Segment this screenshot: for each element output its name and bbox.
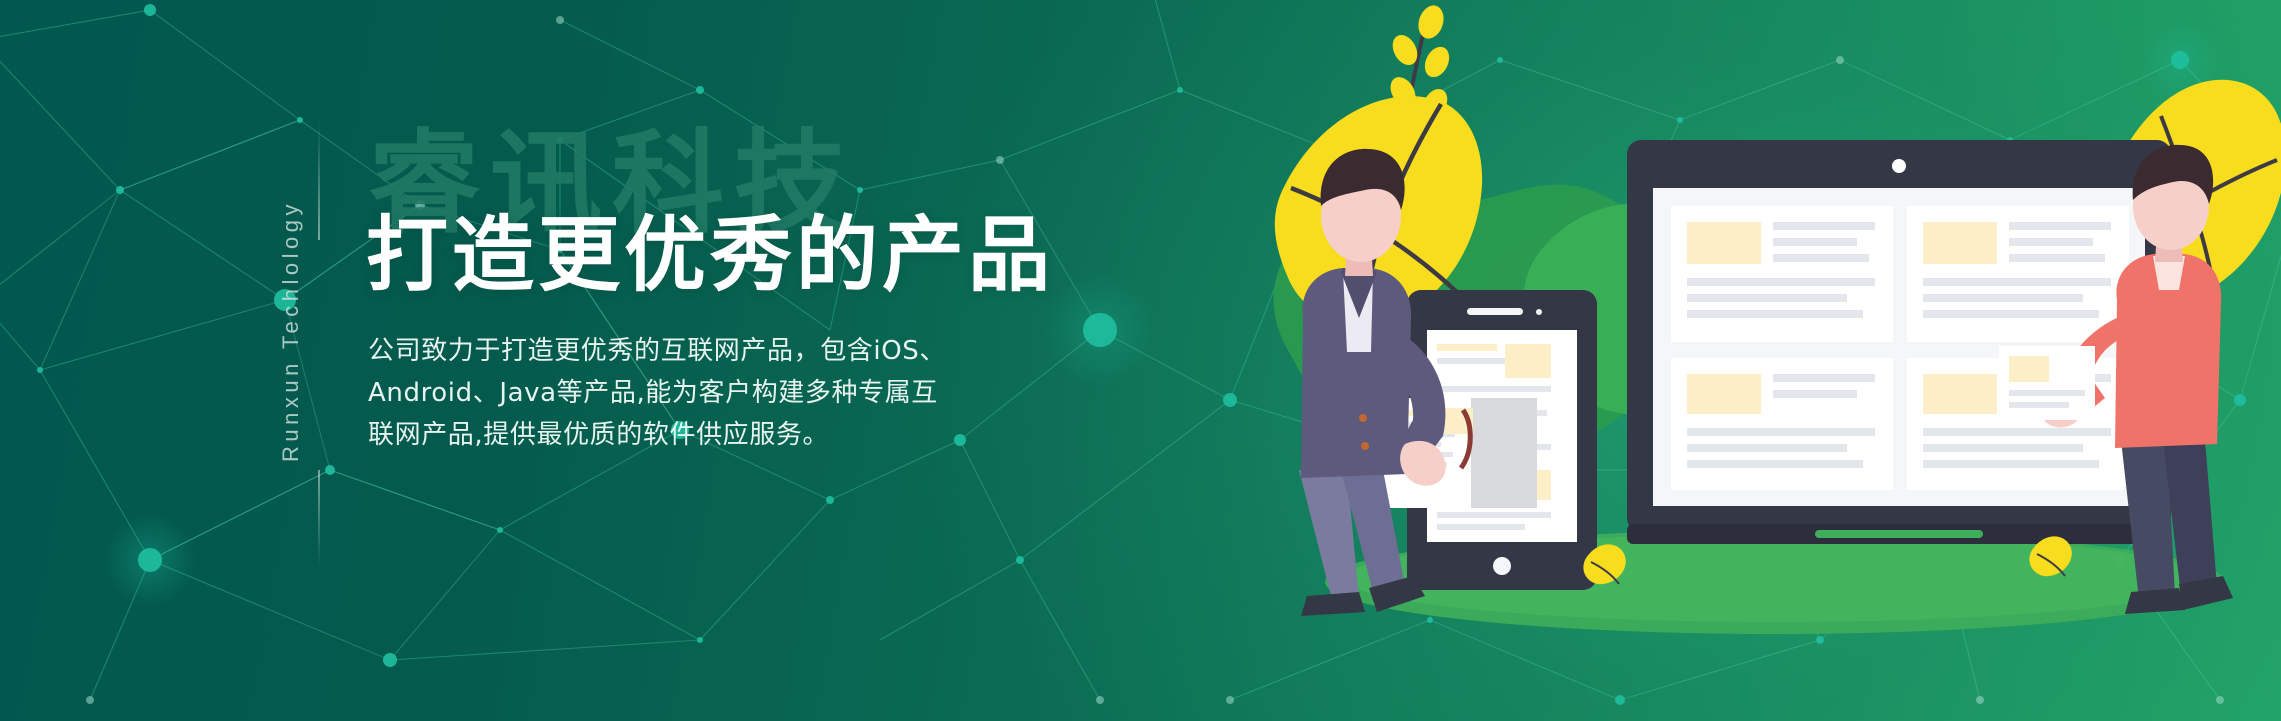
hero-description: 公司致力于打造更优秀的互联网产品，包含iOS、 Android、Java等产品,… — [368, 330, 1168, 456]
hero-copy: Runxun Techlology 睿讯科技 打造更优秀的产品 公司致力于打造更… — [0, 0, 1100, 721]
team-devices-illustration — [1255, 0, 2281, 721]
hero-banner: Runxun Techlology 睿讯科技 打造更优秀的产品 公司致力于打造更… — [0, 0, 2281, 721]
vertical-tagline: Runxun Techlology — [278, 200, 304, 462]
vertical-rule-top — [318, 122, 320, 240]
description-line: 公司致力于打造更优秀的互联网产品，包含iOS、 — [368, 330, 1168, 372]
description-line: Android、Java等产品,能为客户构建多种专属互 — [368, 372, 1168, 414]
vertical-rule-bottom — [318, 470, 320, 566]
description-line: 联网产品,提供最优质的软件供应服务。 — [368, 414, 1168, 456]
page-title: 打造更优秀的产品 — [366, 215, 1054, 297]
